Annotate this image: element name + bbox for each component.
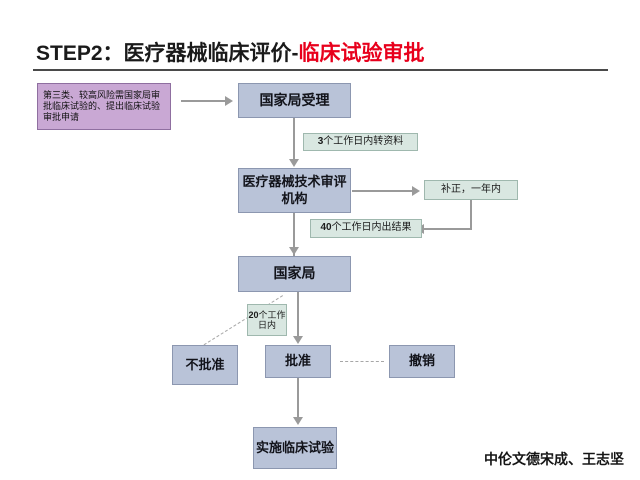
note-forty-working-days-number: 40 — [320, 222, 331, 233]
note-forty-working-days: 40个工作日内出结果 — [310, 219, 422, 238]
arrowhead-approve-to-trial — [293, 417, 303, 425]
note-supplement-one-year: 补正，一年内 — [424, 180, 518, 200]
arrowhead-accept-to-tech — [289, 159, 299, 167]
connector-supplement-return-vertical — [470, 200, 472, 228]
arrowhead-source-to-accept — [225, 96, 233, 106]
arrowhead-bureau-to-approve — [293, 336, 303, 344]
connector-bureau-to-approve — [297, 292, 299, 337]
node-not-approved[interactable]: 不批准 — [172, 345, 238, 385]
page-title: STEP2：医疗器械临床评价-临床试验审批 — [36, 37, 425, 67]
node-revoked[interactable]: 撤销 — [389, 345, 455, 378]
connector-source-to-accept — [181, 100, 225, 102]
arrowhead-tech-to-supplement — [412, 186, 420, 196]
node-technical-review-agency[interactable]: 医疗器械技术审评机构 — [238, 168, 351, 213]
note-three-working-days-text: 个工作日内转资料 — [323, 136, 403, 147]
arrowhead-tech-to-bureau — [289, 247, 299, 255]
note-twenty-working-days-text: 个工作日内 — [258, 310, 286, 330]
node-national-bureau[interactable]: 国家局 — [238, 256, 351, 292]
flowchart-canvas: STEP2：医疗器械临床评价-临床试验审批 第三类、较高风险需国家局审批临床试验… — [0, 0, 640, 480]
node-approved-label: 批准 — [285, 353, 311, 369]
author-credit: 中伦文德宋成、王志坚 — [484, 449, 624, 469]
node-clinical-trial-application[interactable]: 第三类、较高风险需国家局审批临床试验的、提出临床试验审批申请 — [37, 83, 171, 130]
note-twenty-working-days-number: 20 — [248, 310, 258, 320]
connector-tech-to-supplement — [352, 190, 412, 192]
note-supplement-one-year-label: 补正，一年内 — [441, 184, 501, 197]
connector-accept-to-tech — [293, 118, 295, 160]
node-technical-review-agency-label: 医疗器械技术审评机构 — [239, 174, 350, 207]
note-twenty-working-days: 20个工作日内 — [247, 304, 287, 336]
node-conduct-clinical-trial[interactable]: 实施临床试验 — [253, 427, 337, 469]
note-three-working-days: 3个工作日内转资料 — [303, 133, 418, 151]
title-main: STEP2：医疗器械临床评价- — [36, 42, 299, 65]
node-revoked-label: 撤销 — [409, 353, 435, 369]
node-national-bureau-label: 国家局 — [274, 265, 316, 283]
node-national-bureau-acceptance[interactable]: 国家局受理 — [238, 83, 351, 118]
node-approved[interactable]: 批准 — [265, 345, 331, 378]
title-divider — [33, 69, 608, 71]
connector-approve-to-revoke — [340, 361, 384, 362]
node-conduct-clinical-trial-label: 实施临床试验 — [256, 440, 334, 456]
note-forty-working-days-text: 个工作日内出结果 — [332, 222, 412, 233]
node-clinical-trial-application-label: 第三类、较高风险需国家局审批临床试验的、提出临床试验审批申请 — [43, 90, 165, 124]
node-not-approved-label: 不批准 — [185, 357, 224, 373]
title-accent: 临床试验审批 — [299, 42, 425, 65]
connector-supplement-return-horizontal — [424, 228, 472, 230]
node-national-bureau-acceptance-label: 国家局受理 — [260, 92, 330, 110]
connector-approve-to-trial — [297, 378, 299, 418]
